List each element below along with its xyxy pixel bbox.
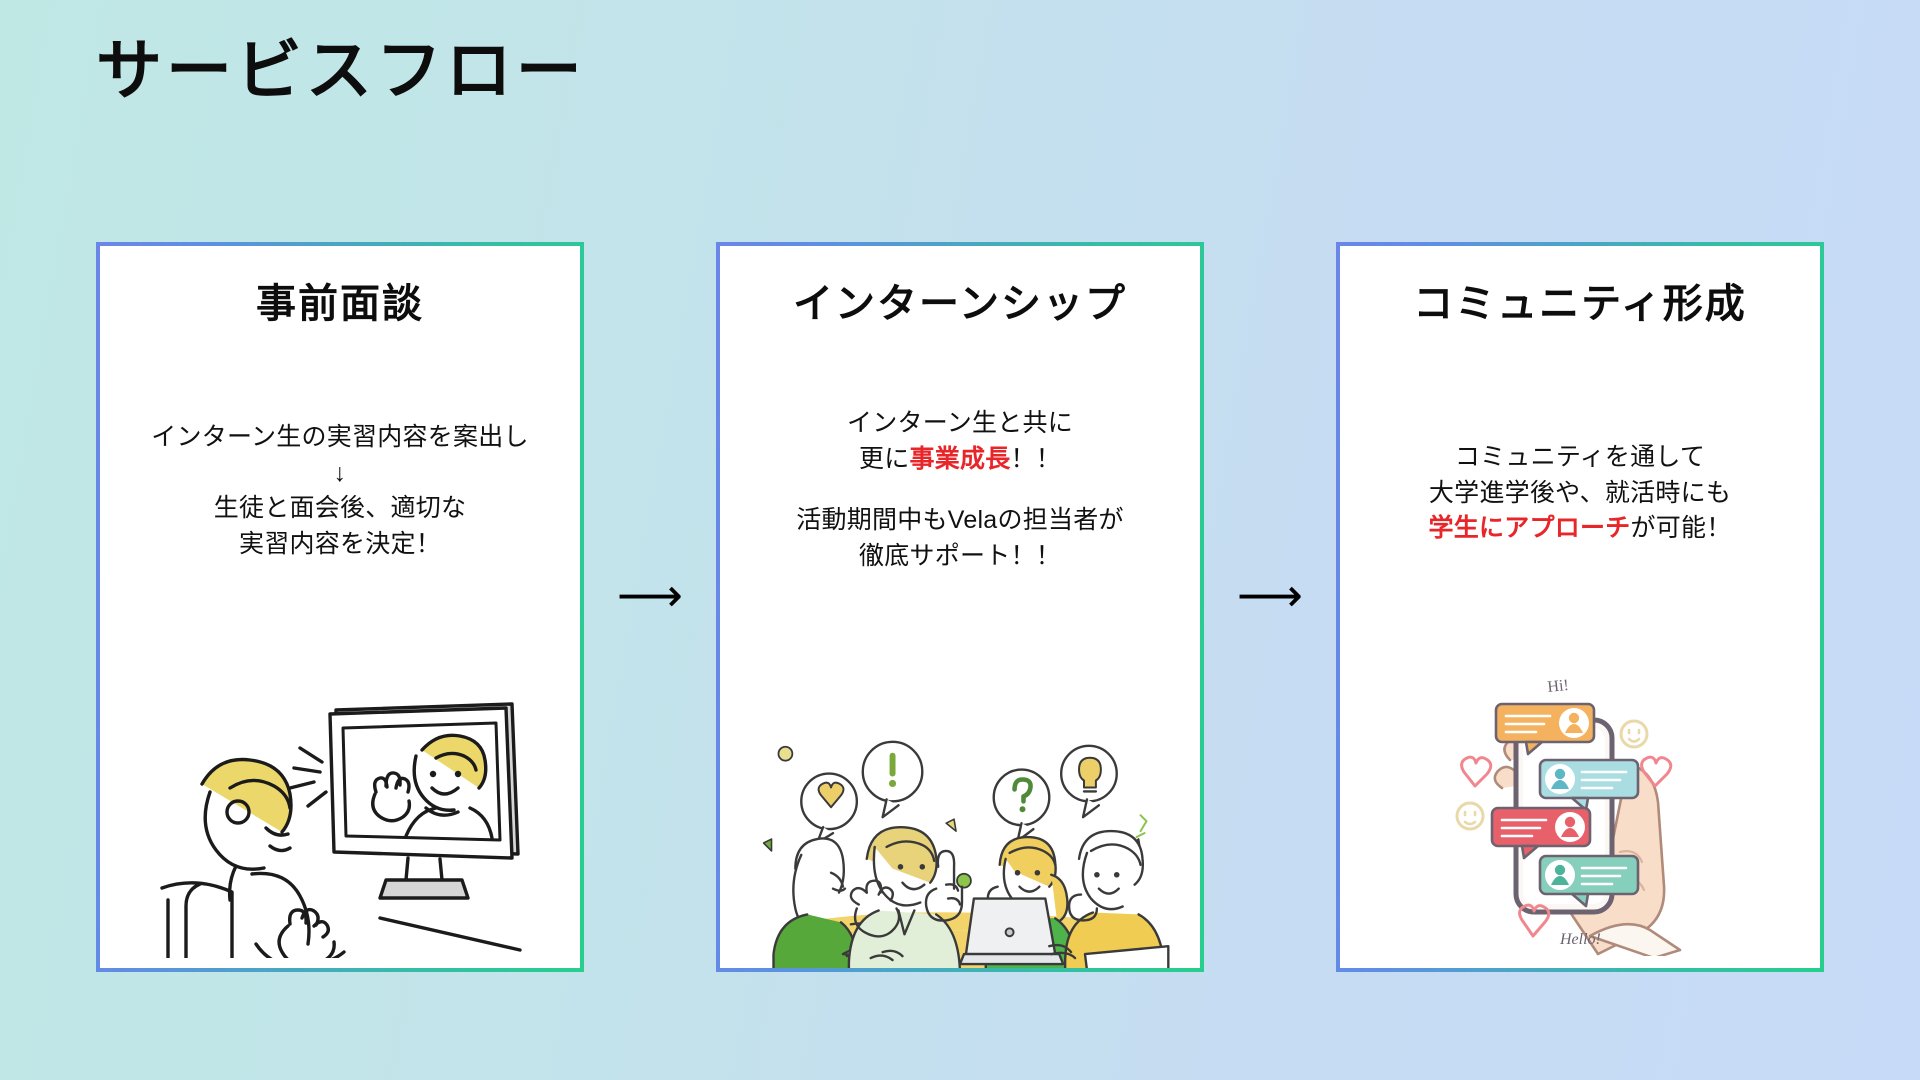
video-interview-illustration [100, 688, 580, 958]
flow-card-rail: 事前面談 インターン生の実習内容を案出し ↓ 生徒と面会後、適切な 実習内容を決… [0, 242, 1920, 972]
flow-card-1-line-4: 実習内容を決定！ [110, 527, 570, 563]
flow-card-3-body: コミュニティを通して 大学進学後や、就活時にも 学生にアプローチが可能！ [1350, 440, 1810, 547]
flow-card-2-line-2: 更に事業成長！！ [730, 442, 1190, 478]
flow-arrow-2: ⟶ [1204, 242, 1336, 972]
flow-card-3-title: コミュニティ形成 [1413, 280, 1747, 328]
flow-card-1-inner: 事前面談 インターン生の実習内容を案出し ↓ 生徒と面会後、適切な 実習内容を決… [100, 246, 580, 968]
team-meeting-illustration [720, 720, 1200, 968]
phone-chat-illustration: Hi! Hello! [1340, 656, 1820, 956]
flow-card-1-title: 事前面談 [256, 280, 424, 328]
flow-card-3[interactable]: コミュニティ形成 コミュニティを通して 大学進学後や、就活時にも 学生にアプロー… [1336, 242, 1824, 972]
flow-card-2-line-1: インターン生と共に [730, 406, 1190, 442]
flow-card-2[interactable]: インターンシップ インターン生と共に 更に事業成長！！ 活動期間中もVelaの担… [716, 242, 1204, 972]
flow-card-2-spacer [730, 477, 1190, 503]
flow-card-2-inner: インターンシップ インターン生と共に 更に事業成長！！ 活動期間中もVelaの担… [720, 246, 1200, 968]
flow-card-1-line-2: ↓ [110, 456, 570, 492]
chat-label-bottom-text: Hello! [1559, 931, 1601, 948]
page-title: サービスフロー [96, 34, 586, 107]
flow-arrow-1: ⟶ [584, 242, 716, 972]
flow-card-3-highlight: 学生にアプローチ [1428, 514, 1630, 542]
flow-card-1-line-3: 生徒と面会後、適切な [110, 491, 570, 527]
flow-card-2-title: インターンシップ [793, 280, 1127, 328]
flow-card-2-line-4: 徹底サポート！！ [730, 539, 1190, 575]
flow-card-1-body: インターン生の実習内容を案出し ↓ 生徒と面会後、適切な 実習内容を決定！ [110, 420, 570, 562]
flow-card-1[interactable]: 事前面談 インターン生の実習内容を案出し ↓ 生徒と面会後、適切な 実習内容を決… [96, 242, 584, 972]
slide-root: サービスフロー 事前面談 インターン生の実習内容を案出し ↓ 生徒と面会後、適切… [0, 0, 1920, 1080]
chat-label-top-text: Hi! [1547, 677, 1570, 696]
flow-card-2-body: インターン生と共に 更に事業成長！！ 活動期間中もVelaの担当者が 徹底サポー… [730, 406, 1190, 574]
flow-card-3-line-3: 学生にアプローチが可能！ [1350, 511, 1810, 547]
flow-card-2-line-3: 活動期間中もVelaの担当者が [730, 503, 1190, 539]
flow-card-3-line-1: コミュニティを通して [1350, 440, 1810, 476]
flow-card-2-highlight: 事業成長 [909, 445, 1010, 473]
flow-card-1-line-1: インターン生の実習内容を案出し [110, 420, 570, 456]
flow-card-3-inner: コミュニティ形成 コミュニティを通して 大学進学後や、就活時にも 学生にアプロー… [1340, 246, 1820, 968]
flow-card-3-line-2: 大学進学後や、就活時にも [1350, 476, 1810, 512]
